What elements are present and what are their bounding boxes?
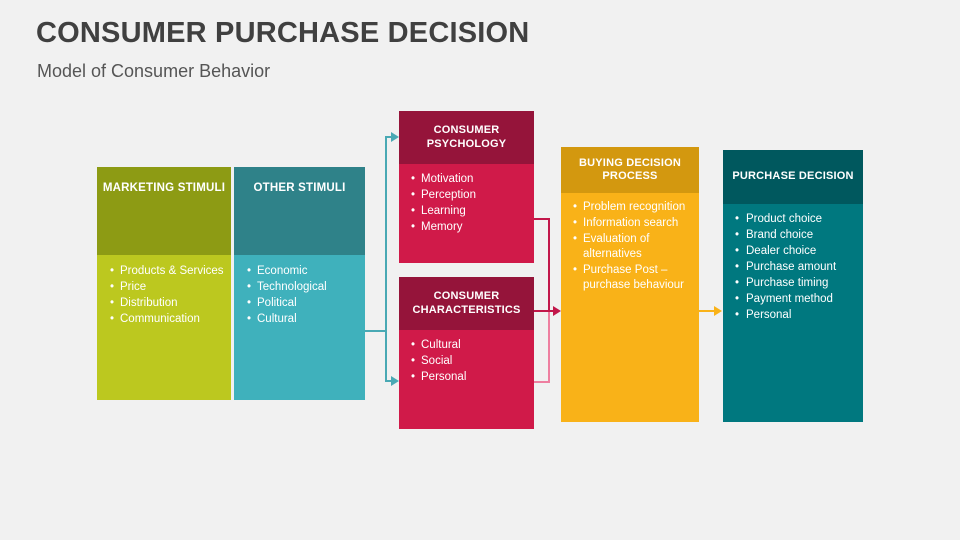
arrowhead-icon <box>714 306 722 316</box>
list-item: •Information search <box>570 216 693 231</box>
list-item: •Economic <box>244 264 359 279</box>
list-item-label: Perception <box>421 188 528 203</box>
list-item: •Personal <box>408 370 528 385</box>
box-other-stimuli[interactable]: OTHER STIMULI •Economic •Technological •… <box>234 167 365 400</box>
list-item: •Cultural <box>244 312 359 327</box>
box-marketing-stimuli-body: •Products & Services •Price •Distributio… <box>97 255 231 400</box>
list-item-label: Products & Services <box>120 264 225 279</box>
bullet-icon: • <box>408 220 418 235</box>
list-item-label: Product choice <box>746 212 857 227</box>
box-consumer-characteristics[interactable]: CONSUMER CHARACTERISTICS •Cultural •Soci… <box>399 277 534 429</box>
list-item: •Payment method <box>732 292 857 307</box>
bullet-icon: • <box>107 264 117 279</box>
box-marketing-stimuli[interactable]: MARKETING STIMULI •Products & Services •… <box>97 167 231 400</box>
bullet-icon: • <box>732 260 742 275</box>
list-item-label: Purchase timing <box>746 276 857 291</box>
box-consumer-characteristics-body: •Cultural •Social •Personal <box>399 330 534 429</box>
list-item-label: Purchase Post – purchase behaviour <box>583 263 693 293</box>
list-item: •Products & Services <box>107 264 225 279</box>
box-other-stimuli-list: •Economic •Technological •Political •Cul… <box>244 264 359 327</box>
list-item: •Memory <box>408 220 528 235</box>
list-item: •Dealer choice <box>732 244 857 259</box>
list-item: •Communication <box>107 312 225 327</box>
list-item: •Motivation <box>408 172 528 187</box>
list-item-label: Memory <box>421 220 528 235</box>
list-item: •Purchase timing <box>732 276 857 291</box>
box-marketing-stimuli-list: •Products & Services •Price •Distributio… <box>107 264 225 327</box>
list-item-label: Cultural <box>421 338 528 353</box>
bullet-icon: • <box>244 296 254 311</box>
bullet-icon: • <box>107 280 117 295</box>
box-marketing-stimuli-title: MARKETING STIMULI <box>97 167 231 255</box>
list-item-label: Motivation <box>421 172 528 187</box>
list-item-label: Technological <box>257 280 359 295</box>
box-buying-decision-process-body: •Problem recognition •Information search… <box>561 193 699 422</box>
list-item: •Cultural <box>408 338 528 353</box>
list-item-label: Political <box>257 296 359 311</box>
bullet-icon: • <box>408 354 418 369</box>
bullet-icon: • <box>408 204 418 219</box>
bullet-icon: • <box>732 212 742 227</box>
list-item-label: Dealer choice <box>746 244 857 259</box>
box-consumer-psychology-list: •Motivation •Perception •Learning •Memor… <box>408 172 528 235</box>
connector-segment <box>548 310 550 383</box>
list-item-label: Brand choice <box>746 228 857 243</box>
connector-segment <box>385 136 387 382</box>
bullet-icon: • <box>732 244 742 259</box>
bullet-icon: • <box>244 312 254 327</box>
arrowhead-icon <box>391 376 399 386</box>
list-item-label: Evaluation of alternatives <box>583 232 693 262</box>
list-item-label: Personal <box>746 308 857 323</box>
bullet-icon: • <box>732 308 742 323</box>
connector-segment <box>365 330 387 332</box>
bullet-icon: • <box>570 232 580 247</box>
box-purchase-decision[interactable]: PURCHASE DECISION •Product choice •Brand… <box>723 150 863 422</box>
box-purchase-decision-title: PURCHASE DECISION <box>723 150 863 204</box>
list-item-label: Information search <box>583 216 693 231</box>
connector-segment <box>548 218 550 312</box>
box-purchase-decision-body: •Product choice •Brand choice •Dealer ch… <box>723 204 863 422</box>
list-item-label: Cultural <box>257 312 359 327</box>
box-consumer-psychology-body: •Motivation •Perception •Learning •Memor… <box>399 164 534 263</box>
box-consumer-psychology-title: CONSUMER PSYCHOLOGY <box>399 111 534 164</box>
list-item-label: Payment method <box>746 292 857 307</box>
list-item-label: Communication <box>120 312 225 327</box>
slide-canvas: CONSUMER PURCHASE DECISION Model of Cons… <box>0 0 960 540</box>
bullet-icon: • <box>408 188 418 203</box>
box-buying-decision-process-title: BUYING DECISION PROCESS <box>561 147 699 193</box>
list-item: •Purchase Post – purchase behaviour <box>570 263 693 293</box>
box-other-stimuli-title: OTHER STIMULI <box>234 167 365 255</box>
box-consumer-psychology[interactable]: CONSUMER PSYCHOLOGY •Motivation •Percept… <box>399 111 534 263</box>
box-buying-decision-process-list: •Problem recognition •Information search… <box>570 200 693 293</box>
bullet-icon: • <box>408 338 418 353</box>
list-item-label: Personal <box>421 370 528 385</box>
box-consumer-characteristics-list: •Cultural •Social •Personal <box>408 338 528 385</box>
bullet-icon: • <box>570 200 580 215</box>
box-buying-decision-process[interactable]: BUYING DECISION PROCESS •Problem recogni… <box>561 147 699 422</box>
list-item-label: Learning <box>421 204 528 219</box>
list-item: •Product choice <box>732 212 857 227</box>
page-title: CONSUMER PURCHASE DECISION <box>36 17 529 50</box>
bullet-icon: • <box>732 292 742 307</box>
box-purchase-decision-list: •Product choice •Brand choice •Dealer ch… <box>732 212 857 323</box>
arrowhead-icon <box>553 306 561 316</box>
list-item: •Personal <box>732 308 857 323</box>
bullet-icon: • <box>107 312 117 327</box>
bullet-icon: • <box>732 276 742 291</box>
bullet-icon: • <box>408 172 418 187</box>
list-item: •Problem recognition <box>570 200 693 215</box>
list-item: •Evaluation of alternatives <box>570 232 693 262</box>
list-item: •Brand choice <box>732 228 857 243</box>
list-item-label: Distribution <box>120 296 225 311</box>
list-item-label: Economic <box>257 264 359 279</box>
bullet-icon: • <box>570 216 580 231</box>
bullet-icon: • <box>244 264 254 279</box>
bullet-icon: • <box>244 280 254 295</box>
list-item-label: Price <box>120 280 225 295</box>
list-item: •Purchase amount <box>732 260 857 275</box>
bullet-icon: • <box>570 263 580 278</box>
box-consumer-characteristics-title: CONSUMER CHARACTERISTICS <box>399 277 534 330</box>
bullet-icon: • <box>732 228 742 243</box>
list-item: •Distribution <box>107 296 225 311</box>
box-other-stimuli-body: •Economic •Technological •Political •Cul… <box>234 255 365 400</box>
list-item: •Social <box>408 354 528 369</box>
list-item: •Price <box>107 280 225 295</box>
list-item-label: Problem recognition <box>583 200 693 215</box>
list-item-label: Purchase amount <box>746 260 857 275</box>
bullet-icon: • <box>107 296 117 311</box>
bullet-icon: • <box>408 370 418 385</box>
list-item-label: Social <box>421 354 528 369</box>
list-item: •Perception <box>408 188 528 203</box>
arrowhead-icon <box>391 132 399 142</box>
list-item: •Technological <box>244 280 359 295</box>
page-subtitle: Model of Consumer Behavior <box>37 61 270 82</box>
list-item: •Learning <box>408 204 528 219</box>
list-item: •Political <box>244 296 359 311</box>
